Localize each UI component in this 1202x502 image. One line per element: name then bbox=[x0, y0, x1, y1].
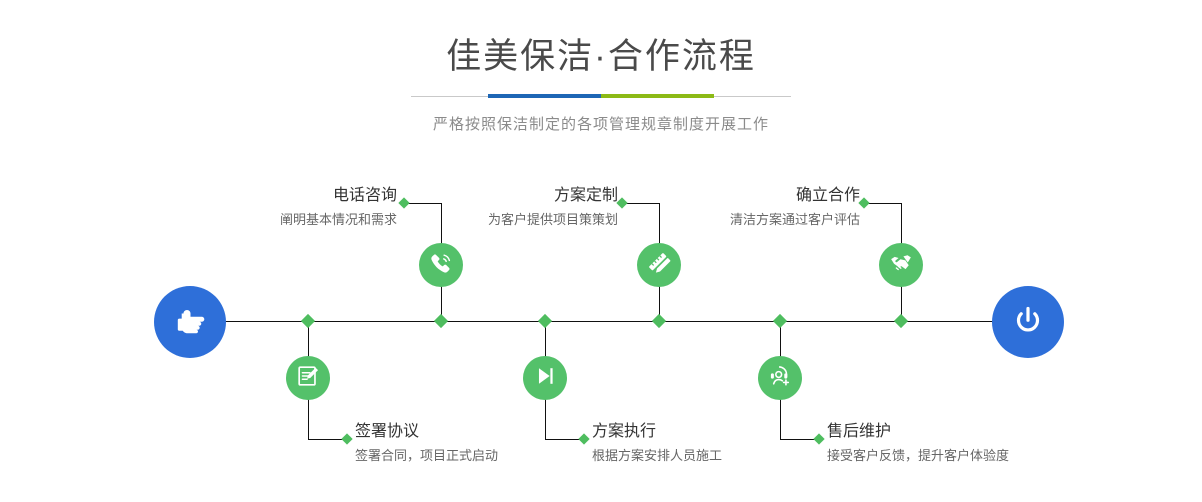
step-label-1: 电话咨询 阐明基本情况和需求 bbox=[215, 186, 397, 230]
step-desc-2: 签署合同，项目正式启动 bbox=[355, 446, 585, 466]
label-marker-5 bbox=[858, 197, 869, 208]
pencil-ruler-icon bbox=[646, 250, 672, 281]
connector-horizontal-2 bbox=[308, 439, 346, 440]
power-icon bbox=[1008, 300, 1048, 345]
play-next-icon bbox=[532, 363, 558, 394]
step-node-6[interactable] bbox=[758, 356, 802, 400]
step-node-1[interactable] bbox=[419, 243, 463, 287]
step-desc-6: 接受客户反馈，提升客户体验度 bbox=[827, 446, 1077, 466]
customer-service-add-icon bbox=[767, 363, 793, 394]
step-desc-3: 为客户提供项目策策划 bbox=[440, 210, 618, 230]
axis-marker-4 bbox=[538, 314, 552, 328]
pointing-hand-icon bbox=[170, 300, 210, 345]
axis-marker-1 bbox=[434, 314, 448, 328]
step-desc-1: 阐明基本情况和需求 bbox=[215, 210, 397, 230]
step-node-4[interactable] bbox=[523, 356, 567, 400]
phone-call-icon bbox=[428, 250, 454, 281]
step-node-5[interactable] bbox=[879, 243, 923, 287]
axis-marker-3 bbox=[652, 314, 666, 328]
step-label-2: 签署协议 签署合同，项目正式启动 bbox=[355, 422, 585, 466]
step-label-3: 方案定制 为客户提供项目策策划 bbox=[440, 186, 618, 230]
label-marker-2 bbox=[341, 433, 352, 444]
step-label-5: 确立合作 清洁方案通过客户评估 bbox=[682, 186, 860, 230]
process-flow-infographic: 佳美保洁·合作流程 严格按照保洁制定的各项管理规章制度开展工作 bbox=[0, 0, 1202, 502]
step-label-4: 方案执行 根据方案安排人员施工 bbox=[592, 422, 812, 466]
document-sign-icon bbox=[295, 363, 321, 394]
step-title-2: 签署协议 bbox=[355, 422, 585, 442]
timeline-start-endpoint bbox=[154, 286, 226, 358]
step-node-2[interactable] bbox=[286, 356, 330, 400]
connector-horizontal-5 bbox=[866, 203, 902, 204]
label-marker-6 bbox=[813, 433, 824, 444]
step-desc-4: 根据方案安排人员施工 bbox=[592, 446, 812, 466]
axis-marker-2 bbox=[301, 314, 315, 328]
axis-marker-5 bbox=[894, 314, 908, 328]
connector-horizontal-1 bbox=[406, 203, 442, 204]
step-title-4: 方案执行 bbox=[592, 422, 812, 442]
handshake-icon bbox=[888, 250, 914, 281]
step-title-6: 售后维护 bbox=[827, 422, 1077, 442]
step-title-1: 电话咨询 bbox=[215, 186, 397, 206]
label-marker-1 bbox=[398, 197, 409, 208]
step-title-5: 确立合作 bbox=[682, 186, 860, 206]
step-label-6: 售后维护 接受客户反馈，提升客户体验度 bbox=[827, 422, 1077, 466]
connector-horizontal-3 bbox=[624, 203, 660, 204]
label-marker-3 bbox=[616, 197, 627, 208]
timeline: 电话咨询 阐明基本情况和需求 签署协议 签署合同，项目正式启动 bbox=[0, 0, 1202, 502]
axis-marker-6 bbox=[773, 314, 787, 328]
step-title-3: 方案定制 bbox=[440, 186, 618, 206]
step-node-3[interactable] bbox=[637, 243, 681, 287]
timeline-end-endpoint bbox=[992, 286, 1064, 358]
step-desc-5: 清洁方案通过客户评估 bbox=[682, 210, 860, 230]
